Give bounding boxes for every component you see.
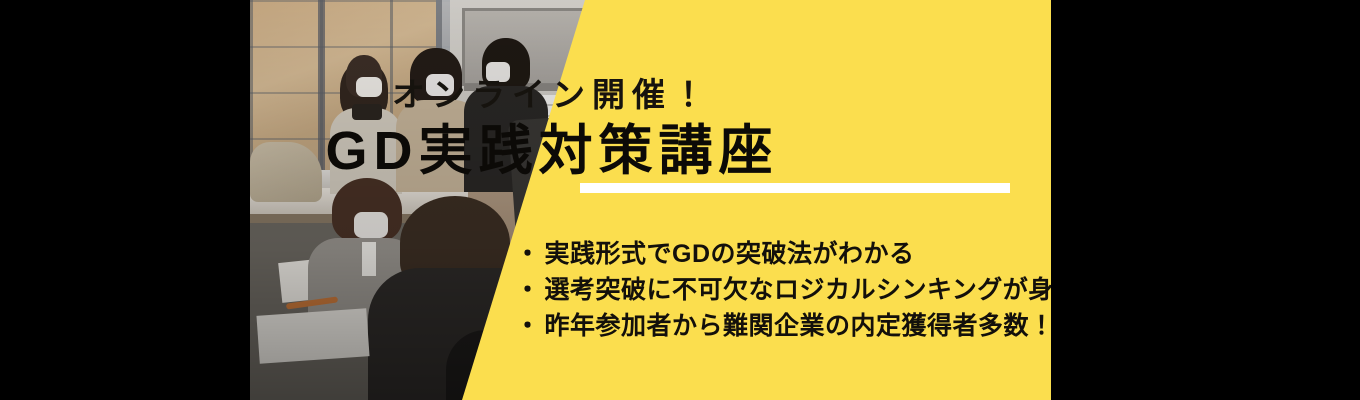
letterbox-bar-left: [0, 0, 250, 400]
bullet-dot-icon: ・: [515, 272, 541, 308]
list-item-label: 実践形式でGDの突破法がわかる: [545, 236, 915, 272]
list-item-label: 選考突破に不可欠なロジカルシンキングが身につく: [545, 272, 1131, 308]
letterbox-bar-right: [1051, 0, 1360, 400]
benefit-list: ・ 実践形式でGDの突破法がわかる ・ 選考突破に不可欠なロジカルシンキングが身…: [515, 236, 1051, 344]
list-item: ・ 昨年参加者から難関企業の内定獲得者多数！: [515, 308, 1051, 344]
promo-banner: オンライン開催！ GD実践対策講座 ・ 実践形式でGDの突破法がわかる ・ 選考…: [0, 0, 1360, 400]
list-item: ・ 実践形式でGDの突破法がわかる: [515, 236, 1051, 272]
title-underline: [580, 183, 1010, 193]
list-item-label: 昨年参加者から難関企業の内定獲得者多数！: [545, 308, 1055, 344]
bullet-dot-icon: ・: [515, 308, 541, 344]
list-item: ・ 選考突破に不可欠なロジカルシンキングが身につく: [515, 272, 1051, 308]
bullet-dot-icon: ・: [515, 236, 541, 272]
